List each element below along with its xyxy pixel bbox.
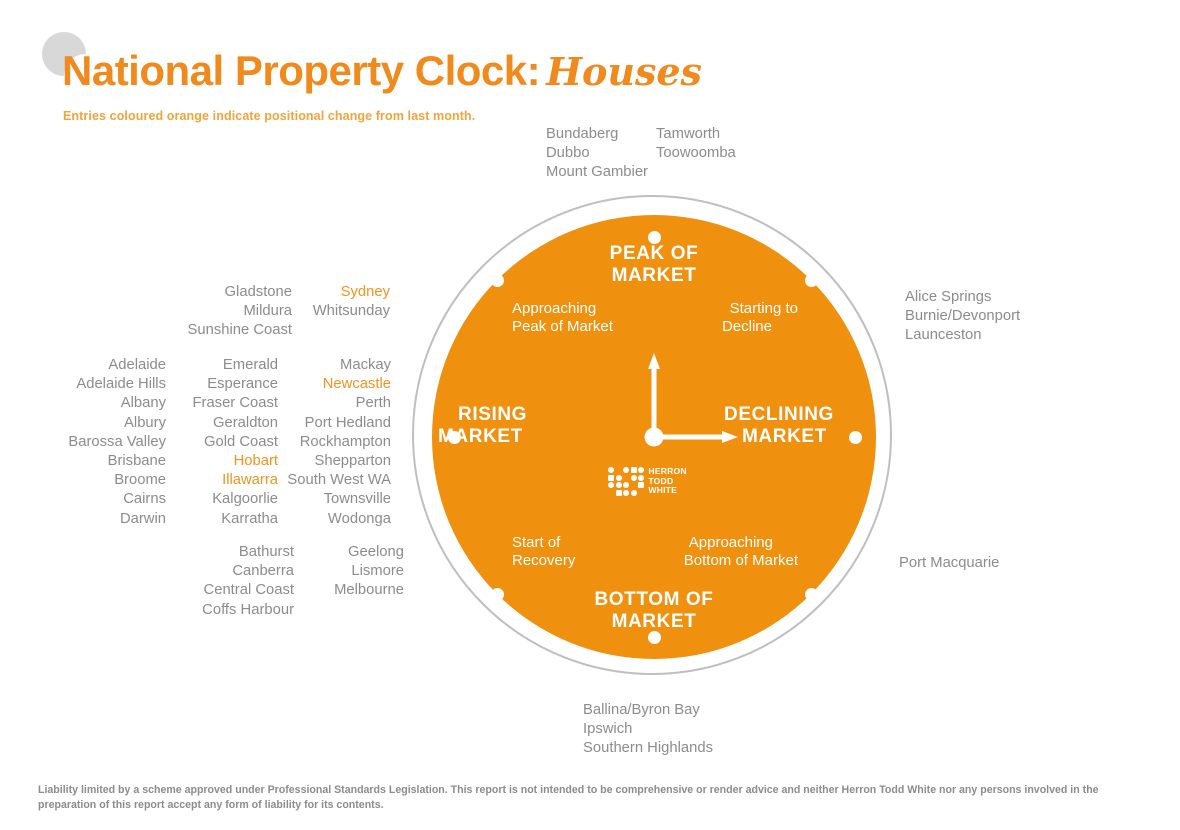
legend-note: Entries coloured orange indicate positio… [63,109,475,123]
list-item: Coffs Harbour [167,601,294,620]
list-item: Sydney [292,283,390,302]
list-item: Dubbo [546,144,656,163]
city-column: Ballina/Byron Bay Ipswich Southern Highl… [583,701,713,759]
list-item: Central Coast [167,581,294,600]
city-block-starting-decline: Alice Springs Burnie/Devonport Launcesto… [905,288,1020,346]
property-clock-infographic: National Property Clock:Houses Entries c… [0,0,1180,830]
list-item: Southern Highlands [583,739,713,758]
list-item: Ipswich [583,720,713,739]
city-column: Sydney Whitsunday [292,283,390,341]
city-column: Gladstone Mildura Sunshine Coast [175,283,292,341]
htw-logo-line-3: WHITE [648,486,686,495]
list-item: Geelong [294,543,404,562]
city-block-approaching-peak: Gladstone Mildura Sunshine Coast Sydney … [175,283,390,341]
list-item: Canberra [167,562,294,581]
htw-dot-grid-icon [608,467,644,496]
city-block-peak: Bundaberg Dubbo Mount Gambier Tamworth T… [546,125,766,183]
list-item: Bathurst [167,543,294,562]
list-item: Broome [55,471,166,490]
list-item: Gladstone [175,283,292,302]
list-item: Lismore [294,562,404,581]
list-item: Darwin [55,510,166,529]
city-block-approaching-bottom: Port Macquarie [899,554,999,573]
list-item: Mackay [278,356,391,375]
list-item: Mildura [175,302,292,321]
page-title-main: National Property Clock: [62,47,540,94]
list-item: Adelaide Hills [55,375,166,394]
list-item: Karratha [166,510,278,529]
list-item: Melbourne [294,581,404,600]
list-item: Alice Springs [905,288,1020,307]
disclaimer-text: Liability limited by a scheme approved u… [38,783,1142,812]
list-item: Burnie/Devonport [905,307,1020,326]
city-column: Adelaide Adelaide Hills Albany Albury Ba… [55,356,166,529]
list-item: Esperance [166,375,278,394]
list-item: Geraldton [166,414,278,433]
property-clock-dial: PEAK OF MARKET DECLINING MARKET BOTTOM O… [412,195,896,679]
list-item: Port Macquarie [899,554,999,573]
city-column: Geelong Lismore Melbourne [294,543,404,620]
list-item: Illawarra [166,471,278,490]
list-item: Newcastle [278,375,391,394]
city-column: Bundaberg Dubbo Mount Gambier [546,125,656,183]
list-item: Rockhampton [278,433,391,452]
city-block-rising: Adelaide Adelaide Hills Albany Albury Ba… [55,356,391,529]
htw-logo-text: HERRON TODD WHITE [648,467,686,495]
clock-hands-icon [412,195,896,679]
list-item: Whitsunday [292,302,390,321]
list-item: Fraser Coast [166,394,278,413]
city-column: Emerald Esperance Fraser Coast Geraldton… [166,356,278,529]
list-item: Launceston [905,326,1020,345]
list-item: Bundaberg [546,125,656,144]
list-item: South West WA [278,471,391,490]
list-item: Port Hedland [278,414,391,433]
page-title-script: Houses [546,49,702,94]
city-block-bottom: Ballina/Byron Bay Ipswich Southern Highl… [583,701,713,759]
list-item: Tamworth [656,125,766,144]
city-column: Alice Springs Burnie/Devonport Launcesto… [905,288,1020,346]
list-item: Sunshine Coast [175,321,292,340]
list-item: Barossa Valley [55,433,166,452]
city-block-start-recovery: Bathurst Canberra Central Coast Coffs Ha… [167,543,404,620]
list-item: Ballina/Byron Bay [583,701,713,720]
list-item: Cairns [55,490,166,509]
list-item: Townsville [278,490,391,509]
list-item: Kalgoorlie [166,490,278,509]
list-item: Brisbane [55,452,166,471]
city-column: Bathurst Canberra Central Coast Coffs Ha… [167,543,294,620]
page-title: National Property Clock:Houses [62,50,702,92]
list-item: Wodonga [278,510,391,529]
list-item: Gold Coast [166,433,278,452]
list-item: Shepparton [278,452,391,471]
list-item: Emerald [166,356,278,375]
city-column: Mackay Newcastle Perth Port Hedland Rock… [278,356,391,529]
list-item: Adelaide [55,356,166,375]
list-item: Mount Gambier [546,163,656,182]
list-item: Hobart [166,452,278,471]
city-column: Port Macquarie [899,554,999,573]
herron-todd-white-logo: HERRON TODD WHITE [608,467,687,496]
list-item: Perth [278,394,391,413]
list-item: Toowoomba [656,144,766,163]
list-item: Albany [55,394,166,413]
city-column: Tamworth Toowoomba [656,125,766,183]
list-item: Albury [55,414,166,433]
